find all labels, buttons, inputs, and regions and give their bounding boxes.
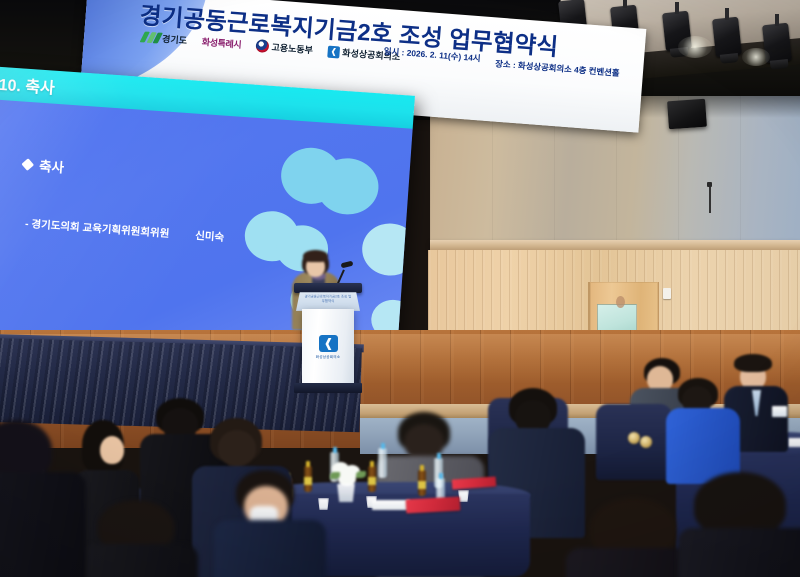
slide-sub-role: - 경기도의회 교육기획위원회위원 (25, 218, 170, 240)
name-badge (772, 406, 787, 417)
document-paper (372, 500, 410, 510)
beverage-bottle (418, 470, 426, 496)
podium: 경기공동근로복지기금2호 조성 업무협약식 ❰ 화성상공회의소 (300, 283, 356, 393)
podium-body: ❰ 화성상공회의소 (302, 309, 354, 387)
chair-emblem (628, 432, 640, 444)
light-glow (678, 36, 712, 58)
person-hair-top (734, 354, 772, 372)
red-folder (406, 497, 461, 514)
person-head (218, 430, 256, 466)
podium-logo-label: 화성상공회의소 (306, 355, 350, 360)
paper-cup (318, 498, 329, 510)
person-shoulders (678, 528, 800, 577)
slide-header-text: 10. 축사 (0, 71, 56, 99)
slide-blob (315, 156, 381, 216)
document-paper (788, 438, 800, 447)
speaker-fringe (303, 250, 328, 262)
slide-speaker-name: 신미숙 (195, 230, 225, 244)
podium-base (294, 383, 362, 393)
flower-petal (338, 472, 356, 486)
slide-bullet-title: 축사 (23, 154, 65, 177)
podium-nameplate-text: 경기공동근로복지기금2호 조성 업무협약식 (304, 295, 353, 304)
flower-vase (336, 484, 356, 502)
cci-logo-icon: ❰ (319, 335, 338, 352)
wall-sensor-icon (707, 182, 712, 187)
person-shoulders (80, 544, 198, 577)
person-shoulders (0, 472, 86, 577)
slide-bullet-title-text: 축사 (39, 155, 65, 177)
person-hair (694, 472, 786, 536)
slide-blob (360, 222, 412, 278)
stage-light-arm (775, 14, 779, 26)
beverage-bottle (304, 466, 312, 492)
gyeonggi-logo-label: 경기도 (162, 32, 188, 47)
stage-light-icon (712, 17, 742, 58)
flower-leaf (356, 471, 366, 478)
person-suit-navy (214, 520, 326, 577)
light-glow (742, 48, 770, 66)
flower-leaf (330, 472, 340, 479)
person-behind-door (616, 296, 625, 308)
water-bottle (378, 448, 387, 478)
light-switch[interactable] (663, 288, 671, 299)
diamond-bullet-icon (21, 158, 34, 171)
slide-sub-line: - 경기도의회 교육기획위원회위원신미숙 (25, 216, 225, 245)
moel-logo-label: 고용노동부 (271, 40, 313, 56)
hwaseong-logo-label: 화성특례시 (201, 35, 241, 51)
chair-emblem (640, 436, 652, 448)
beverage-bottle (368, 466, 376, 492)
stage-light-arm (725, 8, 729, 20)
wall-speaker-icon (667, 99, 707, 130)
stage-light-arm (675, 2, 679, 14)
stage-light-arm (623, 0, 627, 8)
conference-photo: 경기공동근로복지기금2호 조성 업무협약식 경기도 화성특례시 고용노동부 ❰ … (0, 0, 800, 577)
person-face (100, 436, 124, 464)
